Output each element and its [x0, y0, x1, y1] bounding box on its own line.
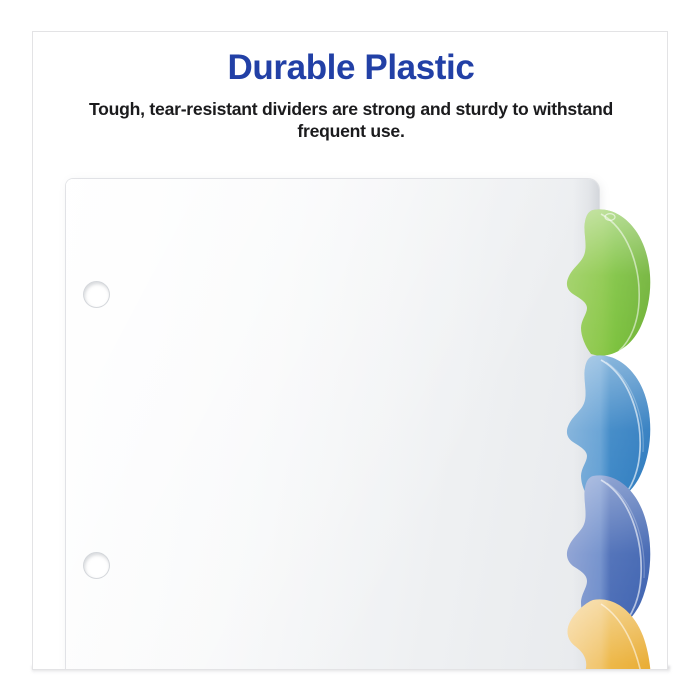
punch-hole-bottom: [84, 553, 109, 578]
sheet-right-edge-shading: [573, 179, 599, 670]
product-card: Durable Plastic Tough, tear-resistant di…: [32, 31, 668, 670]
divider-sheet: [66, 179, 599, 670]
tab-light-blue-inner-outline-2: [606, 362, 643, 452]
tab-orange-inner-outline: [601, 604, 645, 670]
product-photo: [33, 32, 668, 670]
product-marketing-image: Durable Plastic Tough, tear-resistant di…: [0, 0, 700, 700]
tab-royal-blue-inner-outline-2: [607, 483, 644, 578]
tab-light-blue-inner-outline: [601, 360, 640, 500]
tab-green-top-notch: [605, 214, 615, 221]
tab-royal-blue-inner-outline: [601, 480, 641, 628]
sheet-gloss-highlight: [66, 179, 599, 670]
tab-green-inner-outline: [601, 214, 639, 351]
punch-hole-top: [84, 282, 109, 307]
